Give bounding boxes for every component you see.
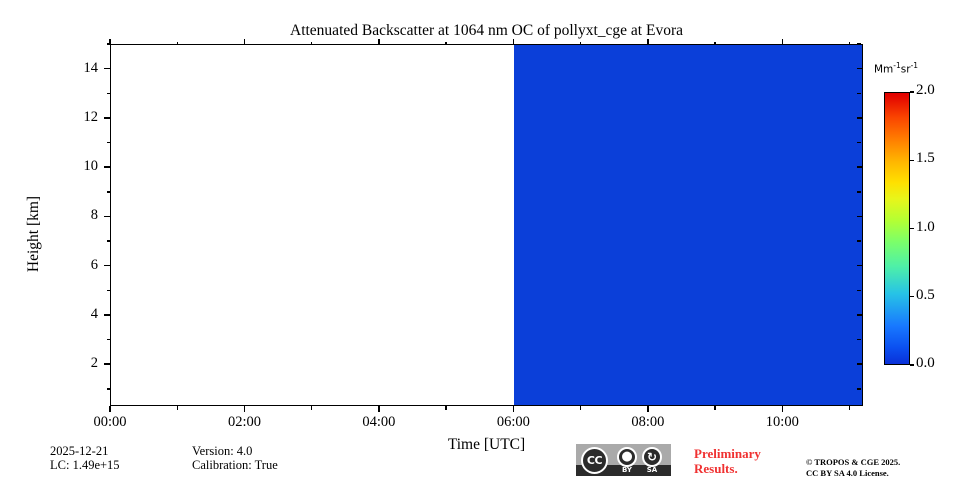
colorbar-tick bbox=[910, 160, 914, 161]
x-axis-tick bbox=[647, 406, 648, 412]
x-axis-tick bbox=[513, 406, 514, 412]
copyright-note: © TROPOS & CGE 2025.CC BY SA 4.0 License… bbox=[806, 457, 900, 479]
cc-by-label: BY bbox=[617, 466, 637, 474]
footer-date: 2025-12-21 bbox=[50, 444, 108, 459]
colorbar-tick bbox=[910, 91, 914, 92]
y-axis-minor-tick bbox=[107, 339, 111, 340]
x-tick-label: 08:00 bbox=[613, 414, 683, 431]
y-axis-tick bbox=[104, 68, 110, 69]
colorbar[interactable] bbox=[884, 92, 910, 365]
x-axis-tick-top bbox=[513, 39, 514, 45]
colorbar-tick-label: 2.0 bbox=[916, 82, 935, 99]
y-axis-label: Height [km] bbox=[25, 84, 43, 384]
x-axis-minor-tick bbox=[311, 406, 312, 410]
preliminary-results-note: PreliminaryResults. bbox=[694, 446, 761, 476]
x-axis-minor-tick bbox=[714, 406, 715, 410]
y-axis-minor-tick bbox=[107, 191, 111, 192]
y-axis-tick bbox=[104, 363, 110, 364]
x-axis-tick bbox=[782, 406, 783, 412]
y-axis-tick bbox=[104, 166, 110, 167]
y-tick-label: 12 bbox=[38, 109, 98, 126]
x-axis-minor-tick-top bbox=[311, 42, 312, 46]
y-axis-minor-tick bbox=[107, 43, 111, 44]
y-axis-tick-right bbox=[857, 314, 863, 315]
cc-sa-label: SA bbox=[642, 466, 662, 474]
y-axis-minor-tick bbox=[107, 240, 111, 241]
footer-lidar-constant: LC: 1.49e+15 bbox=[50, 458, 120, 473]
page-title: Attenuated Backscatter at 1064 nm OC of … bbox=[110, 22, 863, 40]
y-axis-minor-tick-right bbox=[857, 339, 861, 340]
colorbar-tick-label: 0.0 bbox=[916, 355, 935, 372]
colorbar-tick-label: 0.5 bbox=[916, 287, 935, 304]
x-axis-minor-tick-top bbox=[177, 42, 178, 46]
x-axis-minor-tick bbox=[580, 406, 581, 410]
y-axis-tick bbox=[104, 265, 110, 266]
x-tick-label: 02:00 bbox=[209, 414, 279, 431]
cc-text-glyph: CC bbox=[581, 455, 608, 466]
x-axis-tick-top bbox=[782, 39, 783, 45]
y-axis-minor-tick-right bbox=[857, 93, 861, 94]
y-axis-tick bbox=[104, 314, 110, 315]
y-tick-label: 10 bbox=[38, 158, 98, 175]
y-axis-minor-tick-right bbox=[857, 43, 861, 44]
y-axis-minor-tick bbox=[107, 93, 111, 94]
x-axis-minor-tick-top bbox=[714, 42, 715, 46]
x-axis-minor-tick-top bbox=[580, 42, 581, 46]
x-axis-tick bbox=[378, 406, 379, 412]
y-tick-label: 4 bbox=[38, 306, 98, 323]
y-axis-tick-right bbox=[857, 363, 863, 364]
plot-area[interactable] bbox=[110, 44, 863, 406]
y-axis-tick-right bbox=[857, 68, 863, 69]
cc-sa-arrow-glyph: ↻ bbox=[642, 451, 662, 463]
x-axis-tick bbox=[109, 406, 110, 412]
colorbar-tick bbox=[910, 296, 914, 297]
y-tick-label: 6 bbox=[38, 257, 98, 274]
colorbar-tick-label: 1.5 bbox=[916, 150, 935, 167]
x-axis-minor-tick-top bbox=[849, 42, 850, 46]
x-axis-tick bbox=[244, 406, 245, 412]
colorbar-tick-label: 1.0 bbox=[916, 219, 935, 236]
x-axis-tick-top bbox=[244, 39, 245, 45]
x-axis-minor-tick bbox=[177, 406, 178, 410]
y-axis-tick-right bbox=[857, 216, 863, 217]
y-axis-minor-tick-right bbox=[857, 240, 861, 241]
x-axis-tick-top bbox=[378, 39, 379, 45]
y-axis-minor-tick-right bbox=[857, 191, 861, 192]
y-axis-minor-tick-right bbox=[857, 142, 861, 143]
x-tick-label: 04:00 bbox=[344, 414, 414, 431]
y-axis-minor-tick-right bbox=[857, 388, 861, 389]
y-axis-minor-tick bbox=[107, 290, 111, 291]
y-axis-minor-tick bbox=[107, 388, 111, 389]
x-tick-label: 06:00 bbox=[478, 414, 548, 431]
y-axis-tick bbox=[104, 216, 110, 217]
x-axis-minor-tick bbox=[445, 406, 446, 410]
y-axis-minor-tick-right bbox=[857, 290, 861, 291]
footer-calibration: Calibration: True bbox=[192, 458, 278, 473]
y-axis-minor-tick bbox=[107, 142, 111, 143]
x-axis-minor-tick-top bbox=[445, 42, 446, 46]
y-axis-tick-right bbox=[857, 166, 863, 167]
cc-by-person-glyph: ● bbox=[617, 450, 637, 463]
y-tick-label: 8 bbox=[38, 207, 98, 224]
colorbar-tick bbox=[910, 364, 914, 365]
figure-canvas: Attenuated Backscatter at 1064 nm OC of … bbox=[0, 0, 960, 480]
colorbar-unit-label: Mm-1sr-1 bbox=[874, 61, 918, 76]
colorbar-tick bbox=[910, 228, 914, 229]
measurement-block bbox=[514, 45, 863, 405]
footer-version: Version: 4.0 bbox=[192, 444, 252, 459]
y-axis-tick bbox=[104, 117, 110, 118]
x-tick-label: 10:00 bbox=[747, 414, 817, 431]
x-tick-label: 00:00 bbox=[75, 414, 145, 431]
y-tick-label: 2 bbox=[38, 355, 98, 372]
y-axis-tick-right bbox=[857, 117, 863, 118]
x-axis-minor-tick bbox=[849, 406, 850, 410]
y-axis-tick-right bbox=[857, 265, 863, 266]
cc-license-badge-icon[interactable]: CC ● ↻ BY SA bbox=[576, 444, 671, 476]
x-axis-tick-top bbox=[647, 39, 648, 45]
y-tick-label: 14 bbox=[38, 60, 98, 77]
